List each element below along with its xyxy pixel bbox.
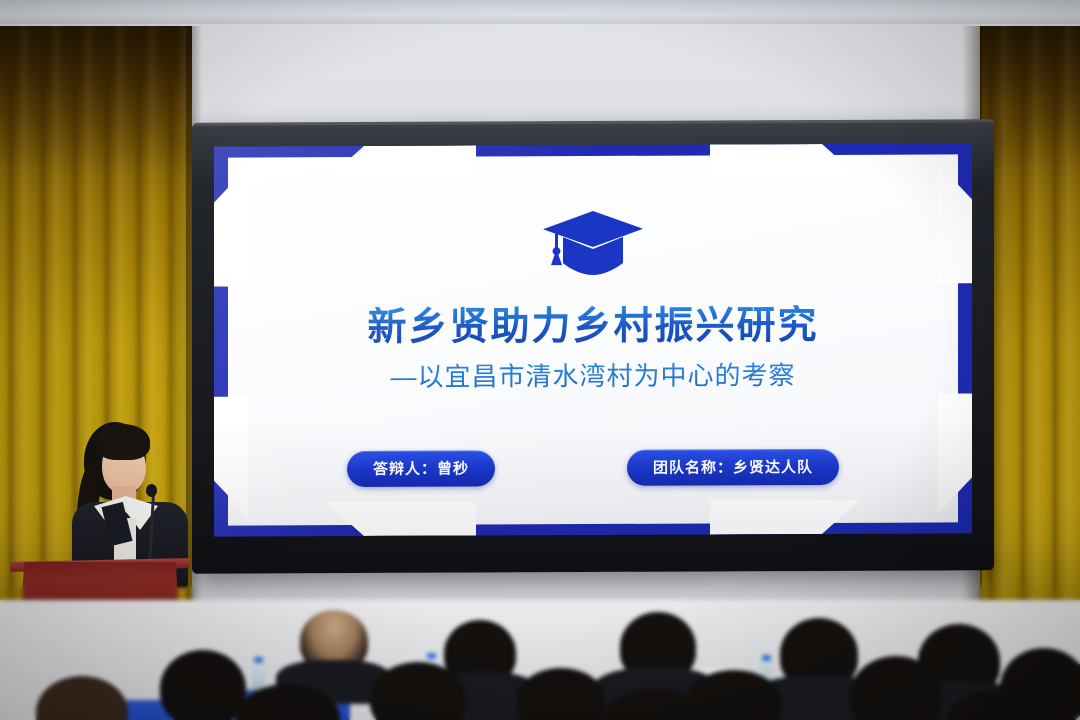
audience-head (160, 650, 246, 720)
presenter-pill: 答辩人：曾秒 (347, 450, 495, 487)
graduation-cap-icon (539, 207, 647, 284)
lecture-hall-photo: 新乡贤助力乡村振兴研究 —以宜昌市清水湾村为中心的考察 答辩人：曾秒 团队名称：… (0, 0, 1080, 720)
team-name-pill: 团队名称：乡贤达人队 (627, 449, 839, 486)
stage-curtain-right (980, 26, 1080, 686)
presentation-slide: 新乡贤助力乡村振兴研究 —以宜昌市清水湾村为中心的考察 答辩人：曾秒 团队名称：… (214, 143, 972, 536)
slide-subtitle: —以宜昌市清水湾村为中心的考察 (390, 355, 795, 394)
slide-info-pills: 答辩人：曾秒 团队名称：乡贤达人队 (214, 448, 972, 487)
microphone-icon (146, 484, 157, 497)
slide-title: 新乡贤助力乡村振兴研究 (367, 305, 818, 348)
presenter-fringe (96, 424, 150, 460)
bottle-cap-icon (254, 657, 263, 663)
presentation-display[interactable]: 新乡贤助力乡村振兴研究 —以宜昌市清水湾村为中心的考察 答辩人：曾秒 团队名称：… (192, 119, 994, 573)
bottle-cap-icon (762, 655, 771, 661)
bottle-cap-icon (427, 653, 436, 659)
slide-content: 新乡贤助力乡村振兴研究 —以宜昌市清水湾村为中心的考察 答辩人：曾秒 团队名称：… (214, 143, 972, 536)
ceiling (0, 0, 1080, 26)
